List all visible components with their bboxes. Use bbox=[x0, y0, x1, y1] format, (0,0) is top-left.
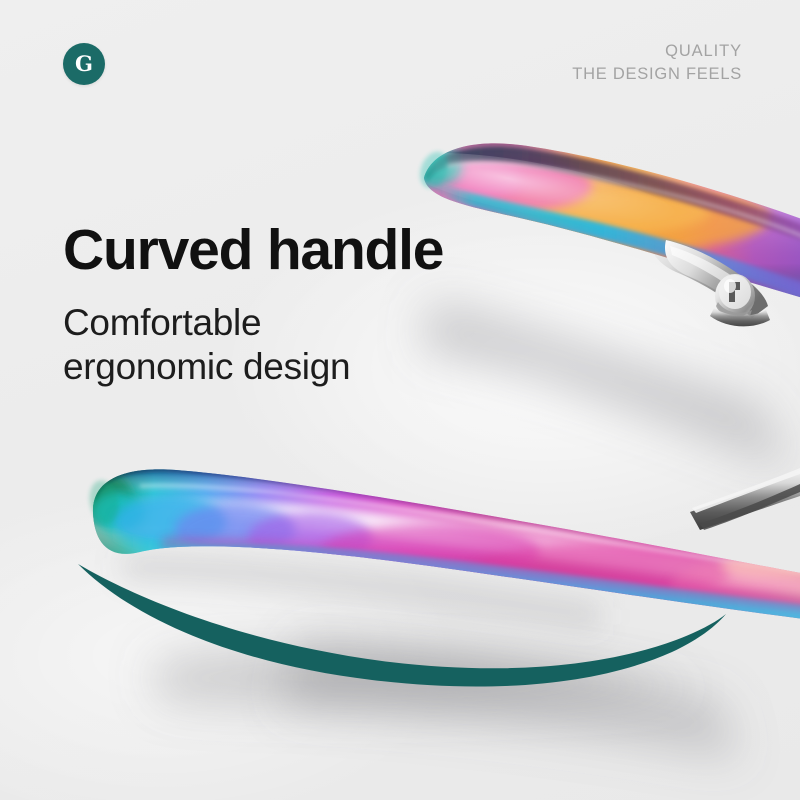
tagline-line-1: QUALITY bbox=[572, 40, 742, 63]
subtitle-line-1: Comfortable bbox=[63, 301, 350, 345]
tagline-line-2: THE DESIGN FEELS bbox=[572, 63, 742, 86]
background-surface bbox=[0, 0, 800, 800]
subtitle-line-2: ergonomic design bbox=[63, 345, 350, 389]
tagline-block: QUALITY THE DESIGN FEELS bbox=[572, 40, 742, 87]
product-marketing-banner: G QUALITY THE DESIGN FEELS Curved handle… bbox=[0, 0, 800, 800]
subtitle-block: Comfortable ergonomic design bbox=[63, 301, 350, 388]
brand-g-logo-icon: G bbox=[63, 43, 105, 85]
logo-glyph: G bbox=[75, 53, 93, 74]
page-title: Curved handle bbox=[63, 221, 443, 281]
